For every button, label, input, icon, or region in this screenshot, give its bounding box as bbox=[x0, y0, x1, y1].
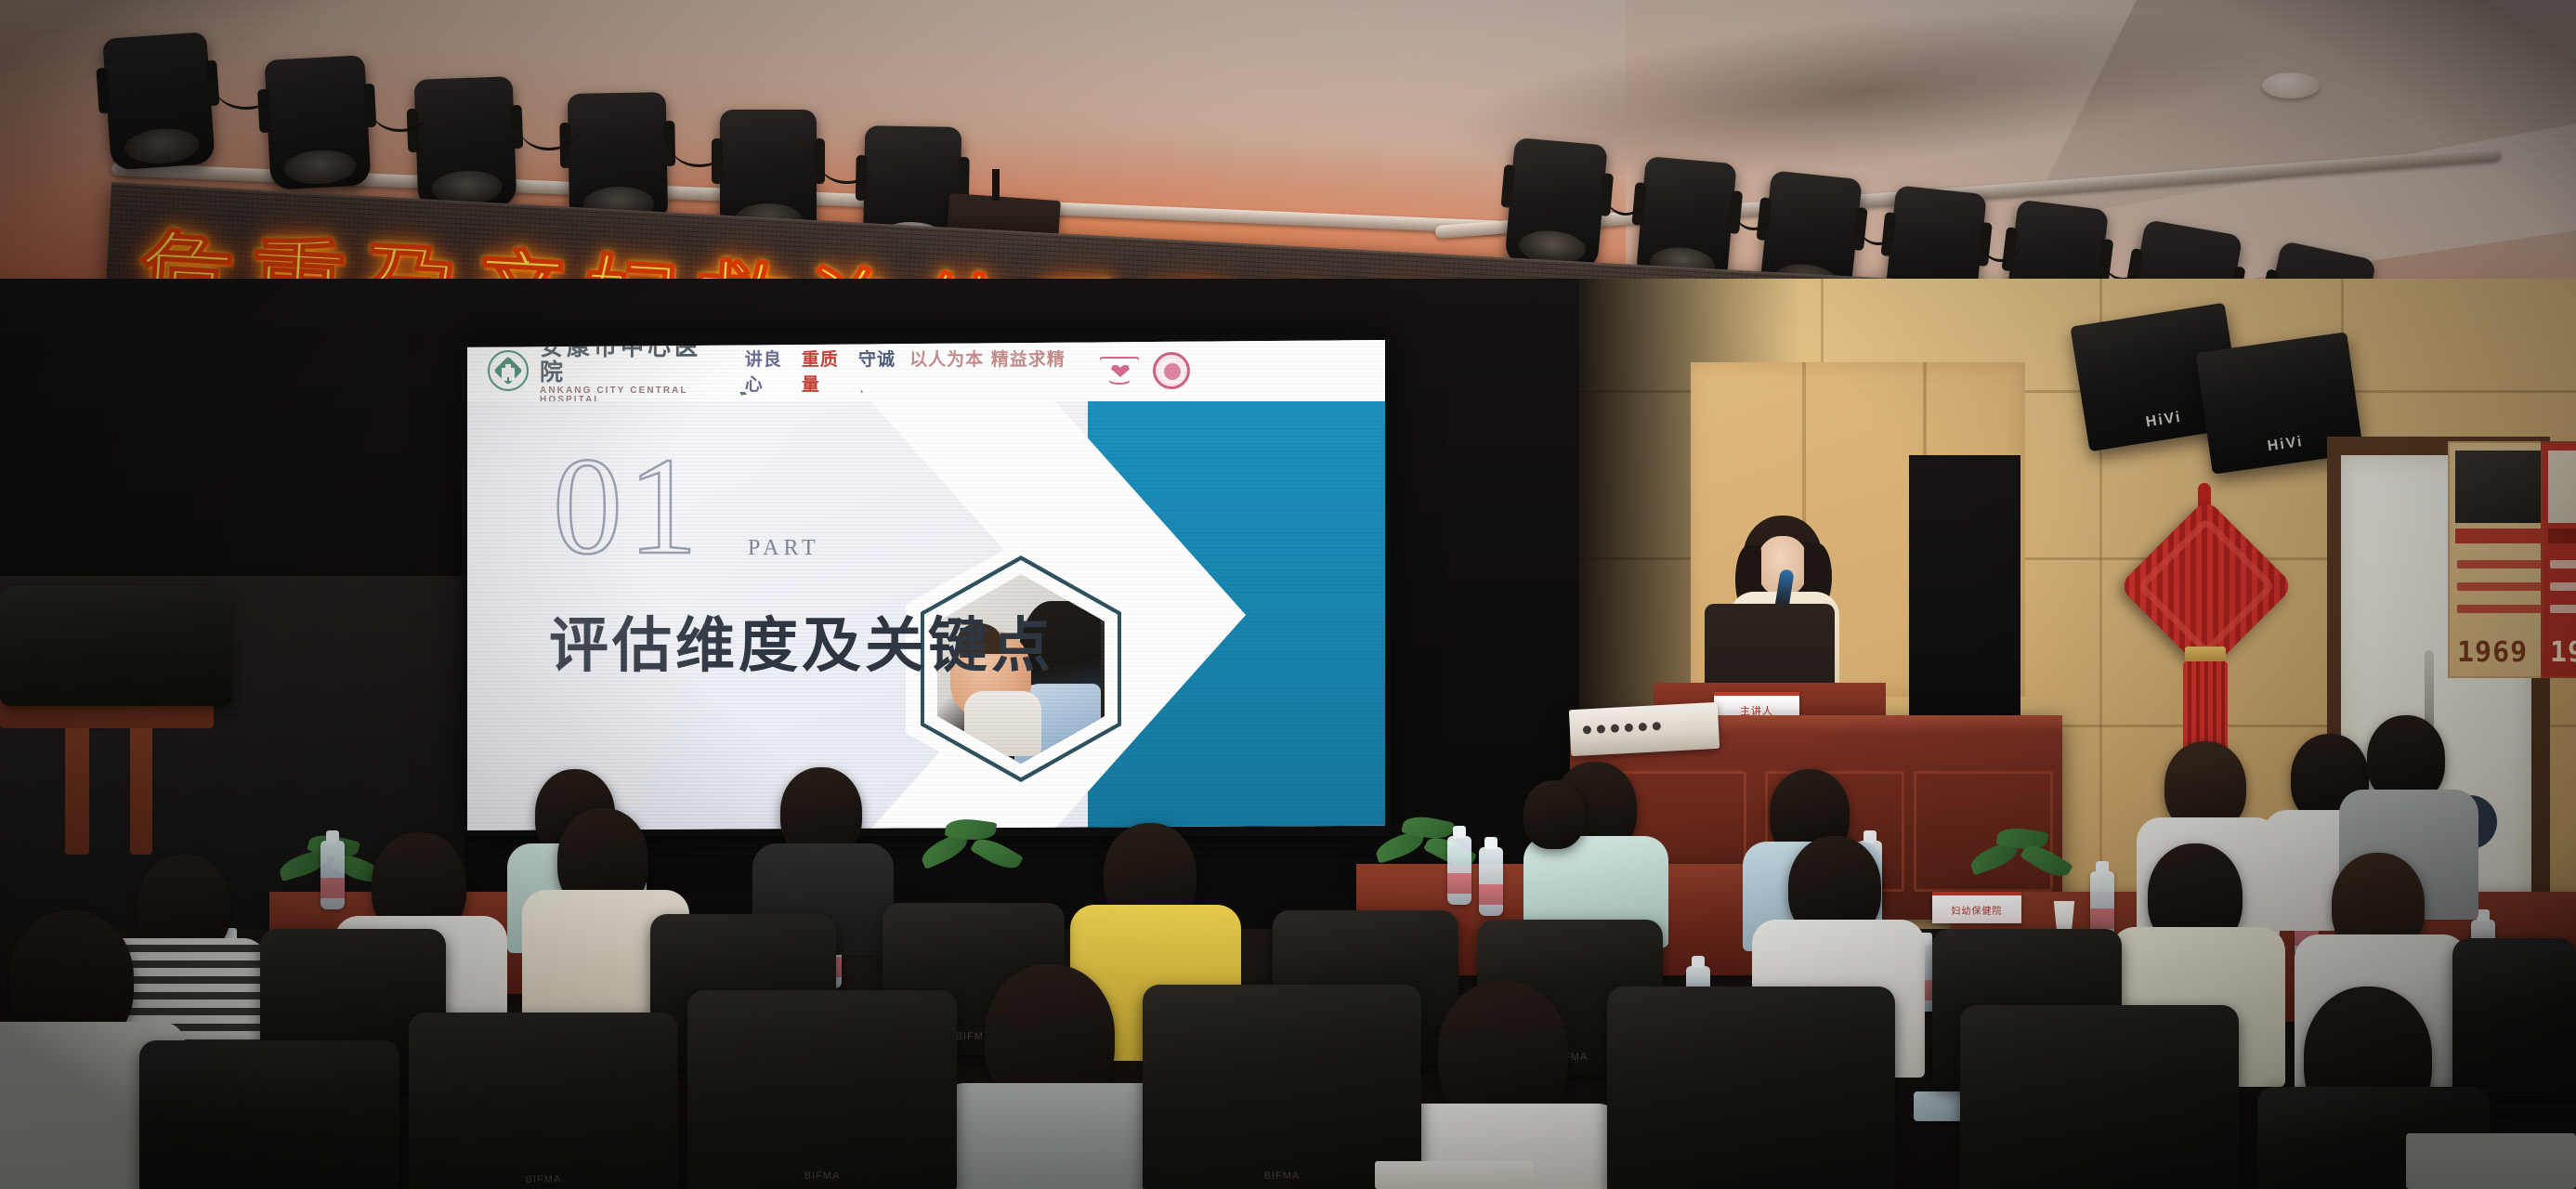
audio-mixer bbox=[1569, 702, 1720, 756]
light-cable bbox=[1733, 188, 1774, 230]
slogan-part-1: 讲良心 bbox=[745, 346, 787, 396]
partner-logos bbox=[1099, 352, 1190, 389]
audience-chair-front[interactable]: BIFMA bbox=[687, 990, 957, 1189]
wooden-chair-back bbox=[0, 585, 232, 706]
light-cable bbox=[2103, 238, 2144, 281]
audience-chair-front[interactable] bbox=[1607, 986, 1895, 1189]
light-cable bbox=[372, 89, 429, 132]
hospital-name-cn: 安康市中心医院 bbox=[540, 340, 706, 385]
audience-head bbox=[1523, 780, 1585, 849]
water-bottle bbox=[1479, 847, 1503, 916]
slogan-part-2: 重质量 bbox=[802, 346, 843, 396]
poster-year: 1969 bbox=[2457, 636, 2528, 669]
par-light-icon bbox=[414, 76, 517, 210]
light-cable bbox=[520, 108, 578, 150]
audience-chair-front[interactable] bbox=[139, 1040, 399, 1189]
hospital-name-block: 安康市中心医院 ANKANG CITY CENTRAL HOSPITAL bbox=[540, 340, 706, 406]
light-cable bbox=[1981, 219, 2021, 262]
light-cable bbox=[671, 124, 728, 167]
conference-hall-photo: 危重孕产妇救治体系评估暨母婴安全适宜技术培训会 安康市中心医院 ANKANG C… bbox=[0, 0, 2576, 1189]
equipment-rack bbox=[1909, 455, 2020, 734]
mixer-knobs bbox=[1583, 722, 1661, 734]
audience-chair-front[interactable]: BIFMA bbox=[1143, 985, 1421, 1189]
potted-plant bbox=[920, 817, 1031, 882]
slide-section-number: 01 bbox=[553, 437, 703, 576]
light-cable bbox=[1858, 203, 1899, 245]
water-bottle bbox=[1447, 836, 1471, 905]
smoke-detector-icon bbox=[2262, 72, 2320, 98]
par-light-icon bbox=[1504, 137, 1607, 271]
wooden-chair-leg bbox=[65, 706, 89, 855]
light-cable bbox=[216, 67, 277, 110]
slide-part-label: PART bbox=[748, 536, 820, 561]
par-light-icon bbox=[568, 92, 668, 226]
light-cable bbox=[1605, 173, 1646, 216]
par-light-icon bbox=[102, 32, 216, 170]
projection-screen: 安康市中心医院 ANKANG CITY CENTRAL HOSPITAL 讲良心… bbox=[467, 340, 1385, 830]
slide-title: 评估维度及关键点 bbox=[549, 598, 1054, 684]
audience-chair-front[interactable]: BIFMA bbox=[409, 1013, 678, 1189]
hospital-emblem-icon bbox=[488, 350, 529, 391]
maternal-child-circle-icon bbox=[1153, 352, 1190, 389]
projector-mount bbox=[992, 169, 1000, 201]
par-light-icon bbox=[264, 55, 371, 189]
potted-plant bbox=[1969, 827, 2081, 892]
nursing-heart-icon bbox=[1099, 357, 1140, 385]
poster-year: 1959 bbox=[2550, 636, 2576, 669]
water-bottle bbox=[320, 841, 345, 909]
paper-document bbox=[2406, 1133, 2576, 1189]
timeline-poster-1959: 1959 bbox=[2541, 441, 2576, 678]
slide-body: 01 PART 评估维度及关键点 bbox=[467, 401, 1385, 830]
audience-chair-front[interactable] bbox=[1960, 1005, 2239, 1189]
wooden-chair-leg bbox=[130, 706, 152, 855]
audience-chair[interactable] bbox=[2452, 938, 2576, 1096]
door-handle[interactable] bbox=[2425, 650, 2434, 730]
paper-document bbox=[1375, 1161, 1533, 1189]
audience-torso bbox=[940, 1083, 1172, 1189]
name-tent-card: 妇幼保健院 bbox=[1932, 892, 2021, 923]
light-cable bbox=[819, 141, 875, 184]
